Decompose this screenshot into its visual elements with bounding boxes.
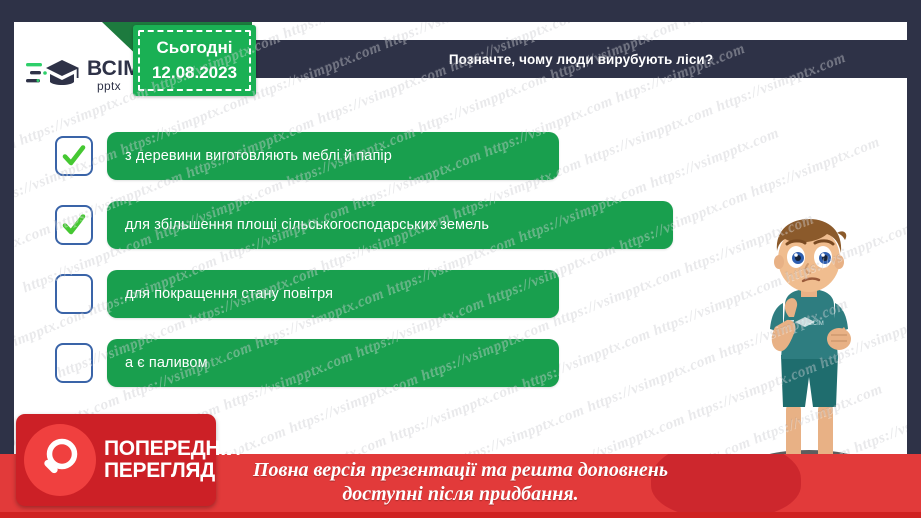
check-icon (61, 143, 87, 169)
banner-line1: Повна версія презентації та решта доповн… (253, 459, 668, 483)
checkbox-option-2[interactable] (55, 205, 93, 245)
thinking-boy-illustration: ВСІМ (739, 207, 879, 482)
option-row-4[interactable]: а є паливом (55, 339, 755, 387)
option-label-3[interactable]: для покращення стану повітря (107, 270, 559, 318)
option-label-2[interactable]: для збільшення площі сільськогосподарськ… (107, 201, 673, 249)
preview-badge-line2: ПЕРЕГЛЯД (104, 460, 241, 482)
brand-logo: ВСІМ pptx (26, 52, 146, 98)
magnifier-icon (24, 424, 96, 496)
checkbox-option-1[interactable] (55, 136, 93, 176)
option-label-4[interactable]: а є паливом (107, 339, 559, 387)
option-row-1[interactable]: з деревини виготовляють меблі й папір (55, 132, 755, 180)
answer-options-list: з деревини виготовляють меблі й папір дл… (55, 132, 755, 408)
check-icon (61, 212, 87, 238)
option-row-3[interactable]: для покращення стану повітря (55, 270, 755, 318)
presentation-slide-frame: ВСІМ pptx Сьогодні 12.08.2023 Позначте, … (0, 0, 921, 518)
svg-text:ВСІМ: ВСІМ (809, 321, 824, 327)
option-label-1[interactable]: з деревини виготовляють меблі й папір (107, 132, 559, 180)
question-title-bar: Позначте, чому люди вирубують ліси? (255, 40, 907, 78)
question-text: Позначте, чому люди вирубують ліси? (449, 52, 713, 67)
banner-line2: доступні після придбання. (342, 483, 578, 507)
checkbox-option-4[interactable] (55, 343, 93, 383)
date-badge-value: 12.08.2023 (152, 61, 237, 85)
banner-decoration (651, 454, 801, 518)
today-date-badge: Сьогодні 12.08.2023 (133, 25, 256, 96)
checkbox-option-3[interactable] (55, 274, 93, 314)
option-row-2[interactable]: для збільшення площі сільськогосподарськ… (55, 201, 755, 249)
preview-badge-line1: ПОПЕРЕДНІЙ (104, 438, 241, 460)
graduation-cap-icon (26, 55, 82, 95)
preview-badge: ПОПЕРЕДНІЙ ПЕРЕГЛЯД (16, 414, 216, 506)
date-badge-label: Сьогодні (157, 36, 233, 60)
